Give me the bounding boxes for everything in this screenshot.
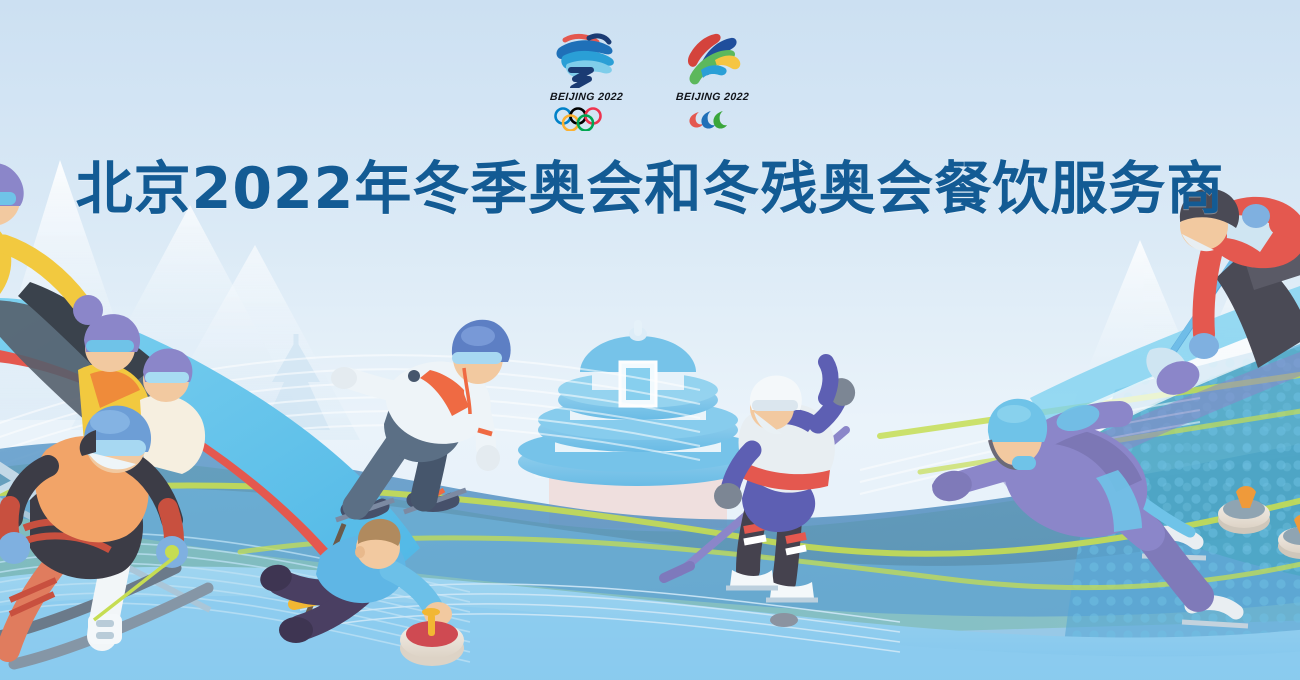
curling-stone-red bbox=[400, 608, 464, 666]
athlete-speed-skater bbox=[929, 399, 1248, 626]
page-title: 北京2022年冬季奥会和冬残奥会餐饮服务商 bbox=[0, 143, 1300, 225]
olympic-emblem-icon bbox=[545, 30, 629, 88]
athlete-curler-delivering bbox=[257, 519, 464, 666]
olympic-rings-icon bbox=[551, 107, 623, 131]
olympics-catering-banner: BEIJING 2022 BEIJING 2022 bbox=[0, 0, 1300, 680]
athlete-ice-hockey-player bbox=[664, 362, 859, 627]
athlete-short-track-skater bbox=[331, 320, 511, 520]
curling-stone-orange-1 bbox=[1218, 486, 1270, 534]
olympic-wordmark: BEIJING 2022 bbox=[550, 91, 624, 103]
paralympic-agitos-icon bbox=[683, 108, 743, 132]
logo-row: BEIJING 2022 BEIJING 2022 bbox=[0, 30, 1300, 132]
curling-stone-orange-2 bbox=[1278, 514, 1300, 559]
paralympic-wordmark: BEIJING 2022 bbox=[676, 91, 750, 103]
athlete-curler-sweeping bbox=[1146, 188, 1300, 559]
paralympic-logo: BEIJING 2022 bbox=[671, 30, 755, 132]
olympic-logo: BEIJING 2022 bbox=[545, 30, 629, 131]
paralympic-emblem-icon bbox=[671, 30, 755, 88]
